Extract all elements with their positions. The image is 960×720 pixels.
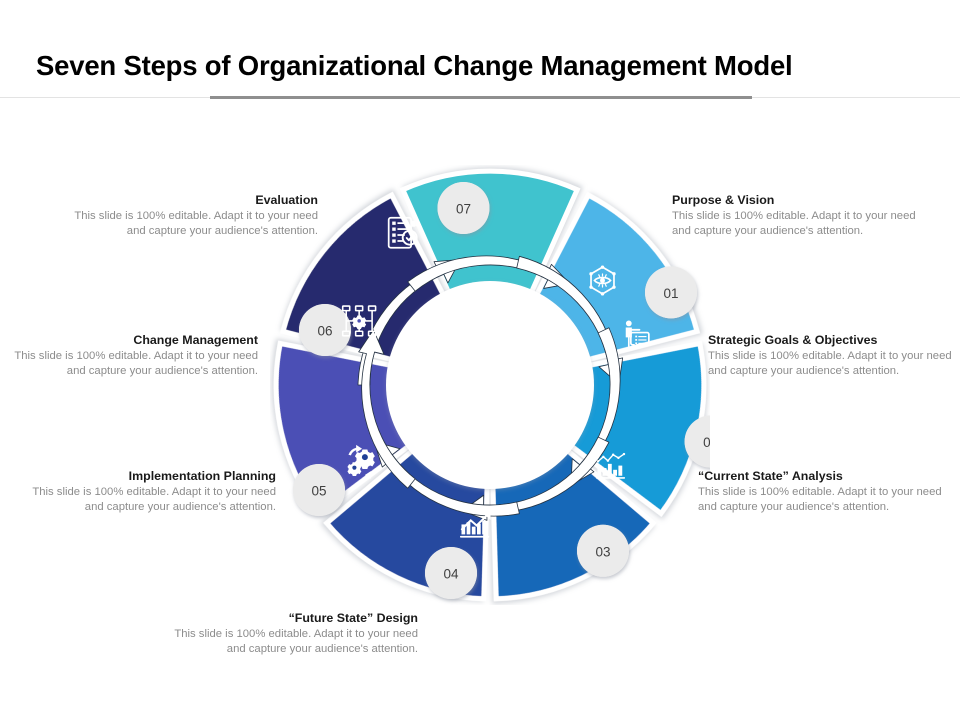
badge-label: 04 [443, 567, 459, 582]
callout-body: This slide is 100% editable. Adapt it to… [672, 209, 930, 239]
badge-label: 03 [595, 544, 610, 559]
badge-label: 01 [663, 286, 678, 301]
callout-title: “Current State” Analysis [698, 468, 956, 484]
title-divider-accent [210, 96, 752, 99]
callout-body: This slide is 100% editable. Adapt it to… [160, 627, 418, 657]
callout-purpose-vision: Purpose & Vision This slide is 100% edit… [672, 192, 930, 239]
badge-05[interactable]: 05 [293, 464, 345, 516]
callout-current-state-analysis: “Current State” Analysis This slide is 1… [698, 468, 956, 515]
callout-title: Implementation Planning [18, 468, 276, 484]
center-hub [386, 281, 594, 489]
callout-implementation-planning: Implementation Planning This slide is 10… [18, 468, 276, 515]
callout-body: This slide is 100% editable. Adapt it to… [0, 349, 258, 379]
callout-body: This slide is 100% editable. Adapt it to… [708, 349, 960, 379]
callout-body: This slide is 100% editable. Adapt it to… [698, 485, 956, 515]
badge-04[interactable]: 04 [425, 547, 477, 599]
badge-label: 05 [311, 484, 326, 499]
callout-strategic-goals: Strategic Goals & Objectives This slide … [708, 332, 960, 379]
callout-title: Strategic Goals & Objectives [708, 332, 960, 348]
org-network-gear-icon [343, 306, 376, 336]
callout-body: This slide is 100% editable. Adapt it to… [18, 485, 276, 515]
badge-label: 07 [456, 202, 471, 217]
badge-03[interactable]: 03 [577, 525, 629, 577]
callout-title: Purpose & Vision [672, 192, 930, 208]
badge-06[interactable]: 06 [299, 304, 351, 356]
badge-01[interactable]: 01 [645, 266, 697, 318]
badge-label: 06 [317, 324, 332, 339]
seven-step-cycle-diagram: 01 02 03 04 [270, 165, 710, 605]
badge-label: 02 [703, 435, 710, 450]
callout-future-state-design: “Future State” Design This slide is 100%… [160, 610, 418, 657]
callout-title: Change Management [0, 332, 258, 348]
callout-change-management: Change Management This slide is 100% edi… [0, 332, 258, 379]
title-area: Seven Steps of Organizational Change Man… [0, 50, 960, 110]
callout-title: “Future State” Design [160, 610, 418, 626]
badge-07[interactable]: 07 [438, 182, 490, 234]
slide-canvas: Seven Steps of Organizational Change Man… [0, 0, 960, 720]
page-title: Seven Steps of Organizational Change Man… [36, 50, 792, 82]
